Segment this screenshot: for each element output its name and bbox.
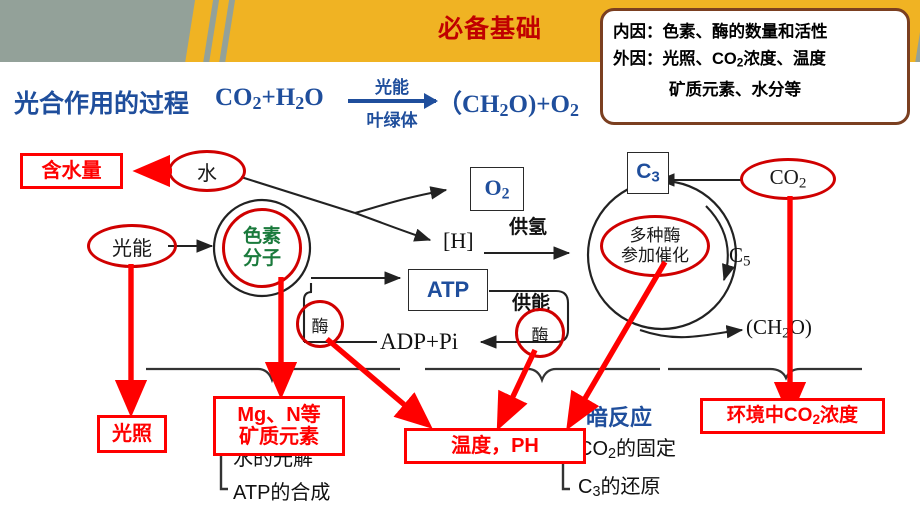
- equation-arrow-top-label: 光能: [352, 73, 432, 98]
- page-title: 必备基础: [400, 13, 580, 45]
- multi-enzyme-line-2: 参加催化: [621, 246, 689, 266]
- enzyme-oval-2-label: 酶: [532, 321, 549, 346]
- temperature-ph-box-label: 温度，PH: [451, 435, 539, 457]
- water-content-box[interactable]: 含水量: [20, 153, 123, 189]
- co2-concentration-box-label: 环境中CO2浓度: [727, 405, 858, 427]
- c5-label: C5: [729, 243, 751, 270]
- dark-reaction-heading: 暗反应: [586, 400, 652, 432]
- atp-box[interactable]: ATP: [408, 269, 488, 311]
- enzyme-oval-2[interactable]: 酶: [515, 308, 565, 358]
- equation-reactants: CO2+H2O: [215, 84, 324, 114]
- equation-arrow-bottom-label: 叶绿体: [348, 106, 436, 131]
- light-oval[interactable]: 光能: [87, 224, 177, 268]
- temperature-ph-box[interactable]: 温度，PH: [404, 428, 586, 464]
- co2-concentration-box[interactable]: 环境中CO2浓度: [700, 398, 885, 434]
- dark-reaction-item-2: C3的还原: [578, 470, 660, 500]
- callout-line-external: 外因：光照、CO2浓度、温度: [613, 46, 897, 77]
- callout-line-internal: 内因：色素、酶的数量和活性: [613, 19, 897, 46]
- water-content-box-label: 含水量: [42, 160, 102, 182]
- slide-canvas: 必备基础 光合作用的过程 CO2+H2O 光能 叶绿体 （CH2O)+O2 内因…: [0, 0, 920, 517]
- c3-box-label: C3: [636, 160, 660, 185]
- multi-enzyme-oval[interactable]: 多种酶 参加催化: [600, 215, 710, 277]
- mineral-elements-box[interactable]: Mg、N等 矿质元素: [213, 396, 345, 456]
- mineral-elements-line-2: 矿质元素: [239, 426, 319, 448]
- water-oval[interactable]: 水: [168, 150, 246, 192]
- adp-pi-label: ADP+Pi: [380, 329, 458, 355]
- light-intensity-box[interactable]: 光照: [97, 415, 167, 453]
- mineral-elements-line-1: Mg、N等: [237, 404, 320, 426]
- light-intensity-box-label: 光照: [112, 423, 152, 445]
- dark-reaction-item-1: CO2的固定: [578, 432, 676, 462]
- atp-box-label: ATP: [427, 277, 469, 303]
- enzyme-oval-1[interactable]: 酶: [296, 300, 344, 348]
- equation-arrow: [348, 99, 436, 103]
- pigment-oval[interactable]: 色素 分子: [222, 208, 302, 288]
- enzyme-oval-1-label: 酶: [312, 312, 329, 337]
- ch2o-label: (CH2O): [746, 315, 812, 342]
- equation-products: （CH2O)+O2: [437, 84, 579, 121]
- co2-oval[interactable]: CO2: [740, 158, 836, 200]
- equation-title: 光合作用的过程: [14, 84, 189, 120]
- h-label: [H]: [443, 228, 474, 254]
- supply-h-label: 供氢: [509, 212, 547, 239]
- factors-callout: 内因：色素、酶的数量和活性 外因：光照、CO2浓度、温度 矿质元素、水分等: [600, 8, 910, 125]
- water-oval-label: 水: [197, 157, 217, 186]
- c3-box[interactable]: C3: [627, 152, 669, 194]
- light-reaction-item-2: ATP的合成: [233, 476, 330, 505]
- pigment-oval-line-1: 色素: [243, 226, 281, 248]
- o2-box[interactable]: O2: [470, 167, 524, 211]
- light-oval-label: 光能: [112, 232, 152, 261]
- o2-box-label: O2: [484, 175, 509, 203]
- callout-line-external-cont: 矿质元素、水分等: [613, 77, 897, 104]
- co2-oval-label: CO2: [770, 165, 807, 192]
- pigment-oval-line-2: 分子: [243, 248, 281, 270]
- multi-enzyme-line-1: 多种酶: [630, 226, 681, 246]
